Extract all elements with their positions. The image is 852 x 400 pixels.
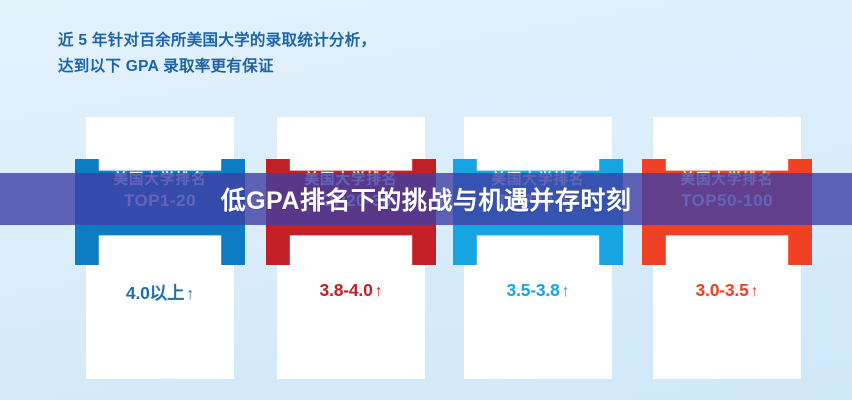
card-paper	[653, 117, 801, 379]
card-gpa-value: 3.8-4.0	[320, 280, 373, 300]
up-arrow-icon: ↑	[562, 283, 570, 300]
card-paper	[277, 117, 425, 379]
overlay-banner: 低GPA排名下的挑战与机遇并存时刻	[0, 173, 852, 225]
ranking-card: 美国大学排名 TOP30-50 3.5-3.8↑	[464, 117, 612, 379]
infographic-canvas: 近 5 年针对百余所美国大学的录取统计分析， 达到以下 GPA 录取率更有保证 …	[0, 0, 852, 400]
card-paper	[86, 117, 234, 379]
card-gpa-row: 3.0-3.5↑	[653, 280, 801, 301]
card-paper	[464, 117, 612, 379]
card-gpa-row: 3.8-4.0↑	[277, 280, 425, 301]
card-gpa-value: 3.0-3.5	[696, 280, 749, 300]
ranking-card: 美国大学排名 TOP50-100 3.0-3.5↑	[653, 117, 801, 379]
ranking-cards-row: 美国大学排名 TOP1-20 4.0以上↑ 美国大学排名 TOP20-30 3.…	[0, 117, 852, 387]
up-arrow-icon: ↑	[186, 286, 194, 303]
ranking-card: 美国大学排名 TOP20-30 3.8-4.0↑	[277, 117, 425, 379]
card-gpa-value: 3.5-3.8	[507, 280, 560, 300]
overlay-banner-text: 低GPA排名下的挑战与机遇并存时刻	[221, 181, 632, 217]
ranking-card: 美国大学排名 TOP1-20 4.0以上↑	[86, 117, 234, 379]
card-gpa-value: 4.0以上	[126, 283, 184, 303]
card-gpa-row: 3.5-3.8↑	[464, 280, 612, 301]
card-gpa-row: 4.0以上↑	[86, 280, 234, 305]
up-arrow-icon: ↑	[751, 283, 759, 300]
up-arrow-icon: ↑	[375, 283, 383, 300]
headline-text: 近 5 年针对百余所美国大学的录取统计分析， 达到以下 GPA 录取率更有保证	[58, 28, 618, 79]
